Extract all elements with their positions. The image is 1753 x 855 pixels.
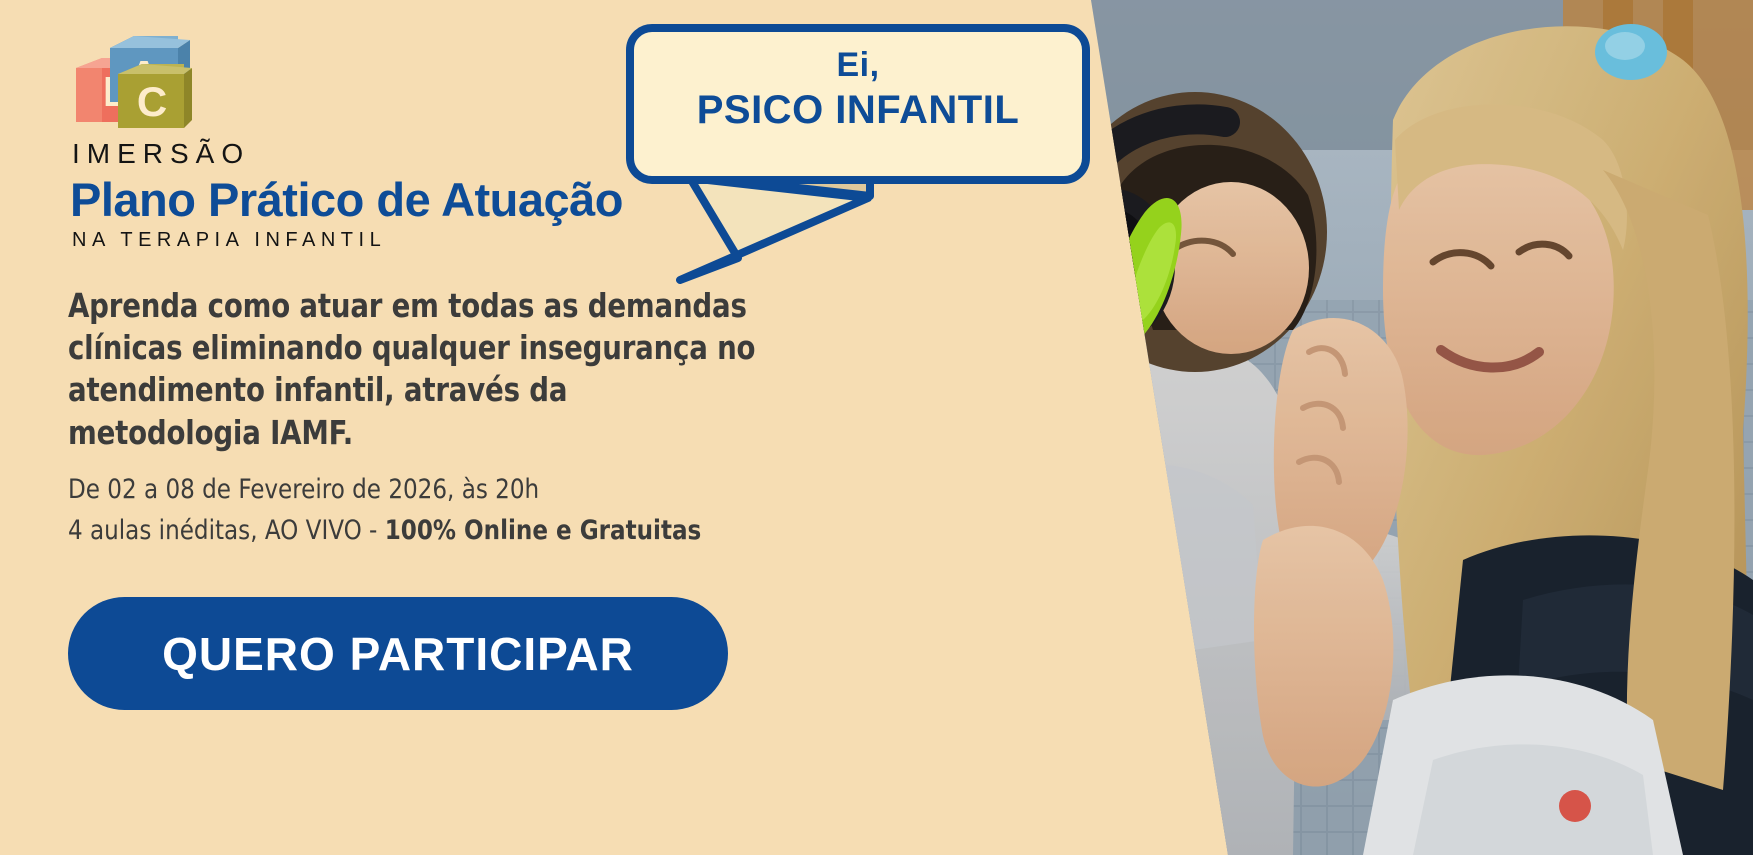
- lead-paragraph: Aprenda como atuar em todas as demandas …: [68, 285, 756, 454]
- abc-blocks-logo: B A C: [72, 28, 192, 138]
- quero-participar-button[interactable]: QUERO PARTICIPAR: [68, 597, 728, 710]
- speech-bubble-callout: Ei, PSICO INFANTIL: [618, 8, 1098, 308]
- abc-blocks-illustration: B A C: [72, 28, 192, 138]
- detail-classes-line: 4 aulas inéditas, AO VIVO - 100% Online …: [68, 513, 923, 548]
- page-subtitle: NA TERAPIA INFANTIL: [72, 230, 386, 250]
- eyebrow-label: IMERSÃO: [72, 140, 250, 168]
- page-title: Plano Prático de Atuação: [70, 175, 623, 224]
- detail-classes-emphasis: 100% Online e Gratuitas: [385, 515, 702, 546]
- detail-classes-prefix: 4 aulas inéditas, AO VIVO -: [68, 515, 385, 546]
- bubble-body: [630, 28, 1086, 180]
- speech-bubble-shape: [618, 8, 1098, 308]
- block-c-letter: C: [137, 78, 167, 125]
- block-c: C: [118, 64, 192, 128]
- banner-root: B A C: [0, 0, 1753, 855]
- detail-date-line: De 02 a 08 de Fevereiro de 2026, às 20h: [68, 472, 923, 507]
